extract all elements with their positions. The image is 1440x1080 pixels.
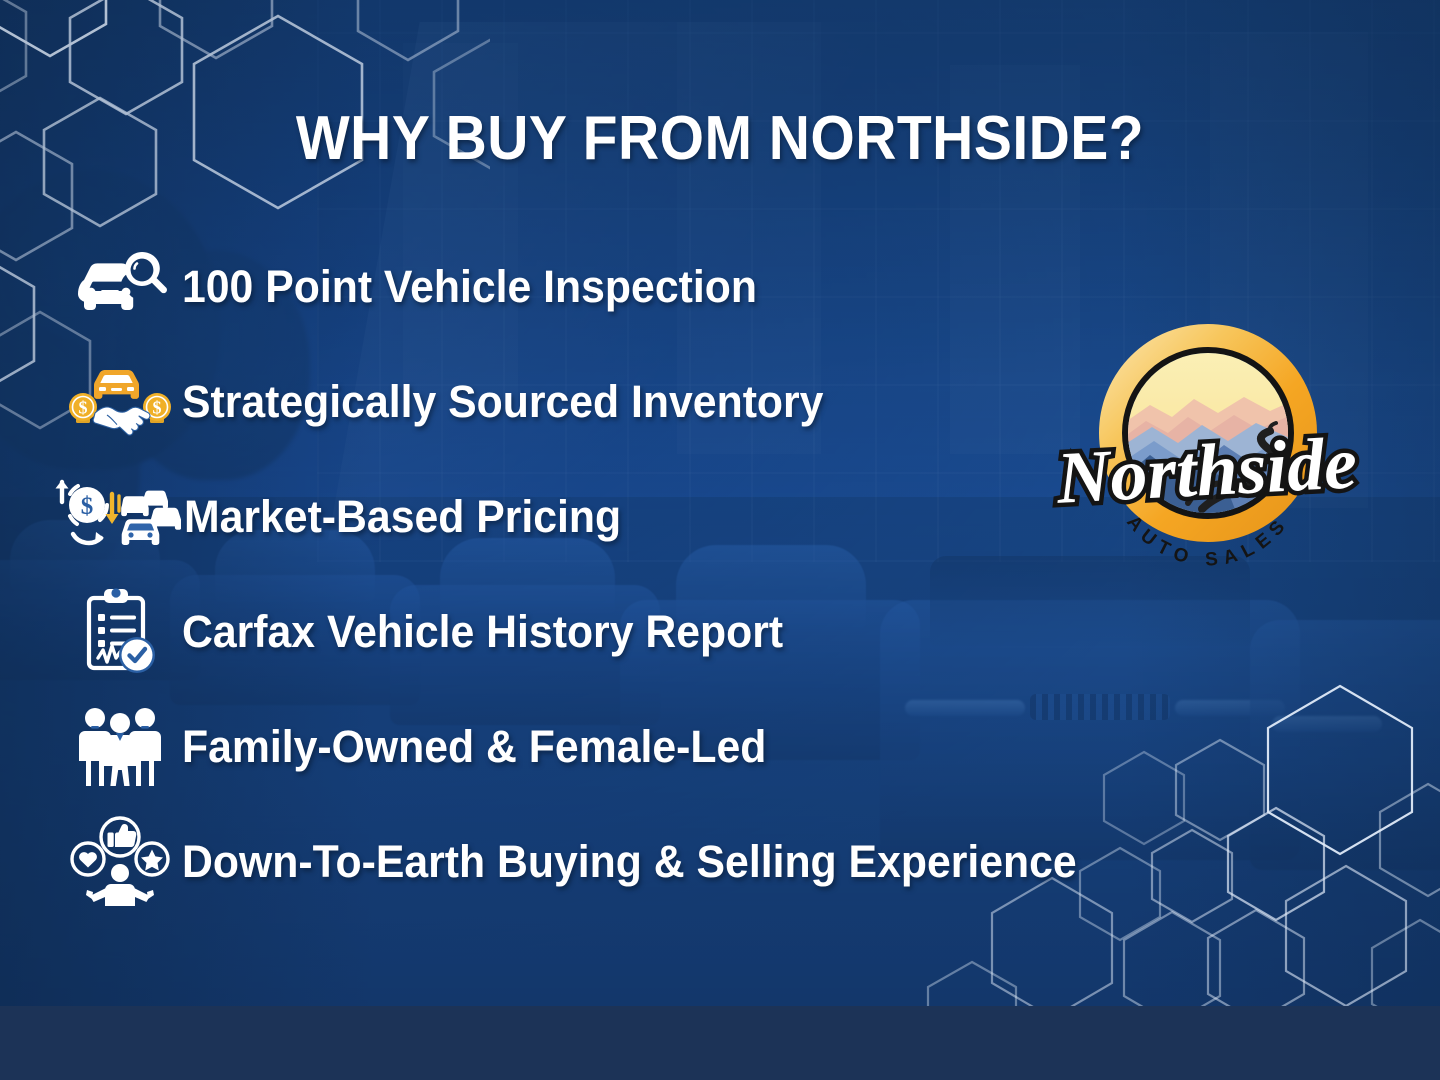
slide-canvas: WHY BUY FROM NORTHSIDE? 100 Point Vehicl… xyxy=(0,0,1440,1080)
handshake-car-money-icon: $ $ xyxy=(58,358,182,444)
svg-text:$: $ xyxy=(81,493,94,520)
benefit-row-carfax: Carfax Vehicle History Report xyxy=(58,588,1268,674)
benefit-label: Down-To-Earth Buying & Selling Experienc… xyxy=(182,839,1077,884)
logo-wordmark: Northside xyxy=(1054,422,1359,520)
car-magnifier-icon xyxy=(58,243,182,329)
bottom-bar xyxy=(0,1006,1440,1080)
svg-text:$: $ xyxy=(153,398,162,418)
svg-text:Northside: Northside xyxy=(1054,422,1359,520)
benefit-label: Carfax Vehicle History Report xyxy=(182,609,783,654)
benefit-row-experience: Down-To-Earth Buying & Selling Experienc… xyxy=(58,818,1268,904)
page-title: WHY BUY FROM NORTHSIDE? xyxy=(58,103,1383,174)
benefit-label: Family-Owned & Female-Led xyxy=(182,724,766,769)
svg-text:$: $ xyxy=(79,398,88,418)
dollar-cycle-cars-icon: $ xyxy=(46,473,184,559)
person-ratings-icon xyxy=(58,818,182,904)
benefit-label: Market-Based Pricing xyxy=(184,494,621,539)
benefit-row-family: Family-Owned & Female-Led xyxy=(58,703,1268,789)
three-people-icon xyxy=(58,703,182,789)
clipboard-check-icon xyxy=(58,588,182,674)
northside-auto-sales-logo: AUTO SALES Northside xyxy=(1038,305,1378,595)
benefit-label: Strategically Sourced Inventory xyxy=(182,379,823,424)
benefit-label: 100 Point Vehicle Inspection xyxy=(182,264,757,309)
